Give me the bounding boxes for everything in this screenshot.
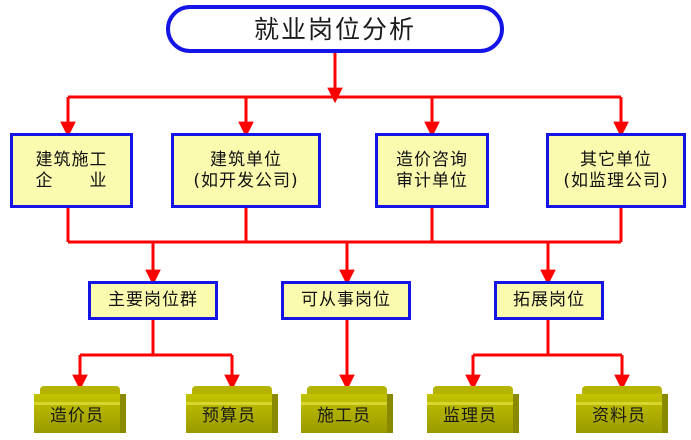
page-title: 就业岗位分析 <box>254 17 416 42</box>
node-line-1: 造价咨询 <box>396 150 468 171</box>
node-label: 拓展岗位 <box>513 290 585 311</box>
node-label: 资料员 <box>592 401 646 426</box>
node-construction-enterprise[interactable]: 建筑施工 企 业 <box>10 133 133 208</box>
block-side-face <box>387 394 393 433</box>
node-line-2: (如监理公司) <box>563 171 668 192</box>
block-front-face: 预算员 <box>186 394 272 433</box>
node-supervision-engineer[interactable]: 监理员 <box>427 386 519 433</box>
connector-arrows <box>0 0 691 440</box>
diagram-title-box: 就业岗位分析 <box>166 5 504 53</box>
node-label: 造价员 <box>50 401 104 426</box>
block-side-face <box>272 394 278 433</box>
node-line-1: 建筑单位 <box>210 150 282 171</box>
node-label: 施工员 <box>317 401 371 426</box>
employment-position-analysis-diagram: 就业岗位分析 建筑施工 企 业 建筑单位 (如开发公司) 造价咨询 审计单位 其… <box>0 0 691 440</box>
node-line-2: (如开发公司) <box>193 171 298 192</box>
node-cost-engineer[interactable]: 造价员 <box>34 386 126 433</box>
node-cost-consulting-audit[interactable]: 造价咨询 审计单位 <box>375 133 489 208</box>
node-label: 监理员 <box>443 401 497 426</box>
block-side-face <box>513 394 519 433</box>
node-line-2: 审计单位 <box>396 171 468 192</box>
block-front-face: 施工员 <box>301 394 387 433</box>
block-side-face <box>120 394 126 433</box>
node-construction-engineer[interactable]: 施工员 <box>301 386 393 433</box>
node-expanded-post[interactable]: 拓展岗位 <box>494 281 604 320</box>
node-label: 主要岗位群 <box>108 290 198 311</box>
node-main-post-group[interactable]: 主要岗位群 <box>88 281 218 320</box>
node-other-unit[interactable]: 其它单位 (如监理公司) <box>546 133 686 208</box>
node-label: 预算员 <box>202 401 256 426</box>
node-available-post[interactable]: 可从事岗位 <box>281 281 411 320</box>
node-budget-engineer[interactable]: 预算员 <box>186 386 278 433</box>
block-front-face: 造价员 <box>34 394 120 433</box>
block-side-face <box>662 394 668 433</box>
node-line-1: 建筑施工 <box>36 150 108 171</box>
block-front-face: 资料员 <box>576 394 662 433</box>
node-label: 可从事岗位 <box>301 290 391 311</box>
node-line-2: 企 业 <box>36 171 108 192</box>
node-construction-unit[interactable]: 建筑单位 (如开发公司) <box>171 133 321 208</box>
node-line-1: 其它单位 <box>580 150 652 171</box>
node-document-clerk[interactable]: 资料员 <box>576 386 668 433</box>
block-front-face: 监理员 <box>427 394 513 433</box>
